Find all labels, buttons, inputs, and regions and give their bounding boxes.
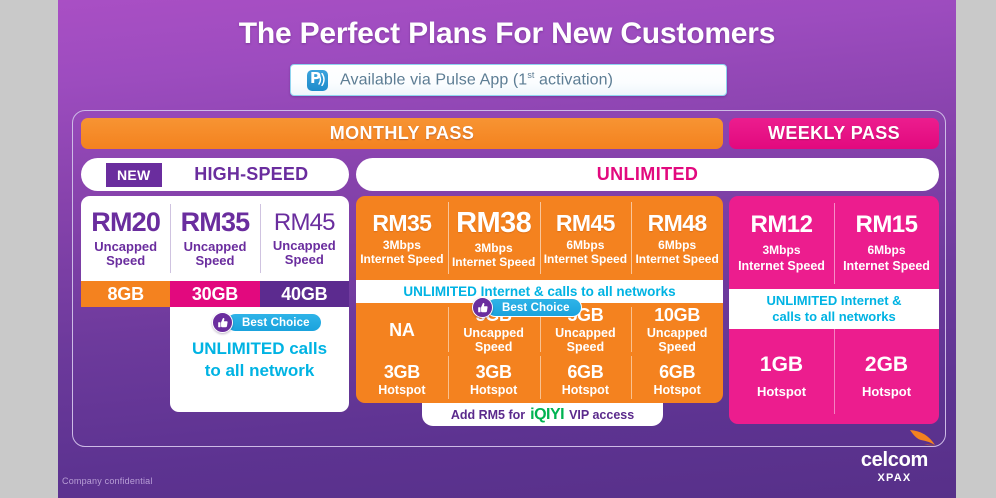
wifi-waves-icon — [317, 73, 326, 86]
hotspot-cell-2gb: 2GB Hotspot — [834, 329, 939, 424]
plan-subtitle: UncappedSpeed — [184, 240, 247, 267]
uncapped-cell-4: 10GB UncappedSpeed — [631, 303, 723, 356]
plan-speed-value: 6Mbps — [566, 239, 604, 252]
unlimited-section-header: UNLIMITED — [356, 158, 939, 191]
high-speed-quota-row: 8GB 30GB 40GB — [81, 281, 349, 307]
thumbs-up-icon — [472, 297, 493, 318]
hotspot-label: Hotspot — [470, 383, 517, 397]
weekly-plans-block: RM12 3Mbps Internet Speed RM15 6Mbps Int… — [729, 196, 939, 424]
high-speed-section-header: NEW HIGH-SPEED — [81, 158, 349, 191]
pulse-text-before: Available via Pulse App (1 — [340, 72, 527, 89]
weekly-internet-calls-banner: UNLIMITED Internet & calls to all networ… — [729, 289, 939, 329]
uncapped-value: NA — [389, 321, 414, 339]
plan-speed-label: Internet Speed — [635, 253, 718, 266]
plan-subtitle: UncappedSpeed — [273, 239, 336, 266]
high-speed-label: HIGH-SPEED — [162, 164, 349, 185]
high-speed-price-row: RM20 UncappedSpeed RM35 UncappedSpeed RM… — [81, 196, 349, 281]
calls-line-1: UNLIMITED calls — [192, 338, 327, 359]
hotspot-cell-2: 3GB Hotspot — [448, 356, 540, 403]
orange-swoosh-icon — [908, 428, 938, 450]
thumbs-up-glyph — [217, 317, 229, 329]
hotspot-cell-1: 3GB Hotspot — [356, 356, 448, 403]
uncapped-label: UncappedSpeed — [463, 326, 523, 354]
pulse-text-superscript: st — [527, 70, 534, 80]
hotspot-cell-3: 6GB Hotspot — [540, 356, 632, 403]
uncapped-value: 10GB — [654, 306, 700, 324]
logo-subbrand: XPAX — [861, 472, 928, 484]
plan-card-rm48-unlimited[interactable]: RM48 6Mbps Internet Speed — [631, 196, 723, 280]
plan-price: RM20 — [91, 209, 160, 236]
hotspot-label: Hotspot — [654, 383, 701, 397]
high-speed-plans-block: RM20 UncappedSpeed RM35 UncappedSpeed RM… — [81, 196, 349, 424]
quota-30gb: 30GB — [170, 281, 259, 307]
hotspot-value: 6GB — [659, 363, 695, 381]
weekly-hotspot-row: 1GB Hotspot 2GB Hotspot — [729, 329, 939, 424]
thumbs-up-icon — [212, 312, 233, 333]
plan-speed-value: 6Mbps — [867, 243, 905, 257]
hotspot-label: Hotspot — [378, 383, 425, 397]
uncapped-label: UncappedSpeed — [647, 326, 707, 354]
plan-price: RM48 — [648, 212, 707, 235]
iqiyi-text-after: VIP access — [569, 408, 634, 422]
plan-speed-value: 3Mbps — [762, 243, 800, 257]
plan-price: RM15 — [855, 213, 917, 237]
plan-card-rm45-unlimited[interactable]: RM45 6Mbps Internet Speed — [540, 196, 632, 280]
hotspot-label: Hotspot — [862, 384, 911, 399]
unlimited-hotspot-row: 3GB Hotspot 3GB Hotspot 6GB Hotspot 6GB … — [356, 356, 723, 403]
unlimited-price-row: RM35 3Mbps Internet Speed RM38 3Mbps Int… — [356, 196, 723, 280]
hotspot-label: Hotspot — [757, 384, 806, 399]
plan-price: RM12 — [750, 213, 812, 237]
weekly-pass-header: WEEKLY PASS — [729, 118, 939, 149]
plan-price: RM38 — [456, 209, 531, 238]
plan-speed-label: Internet Speed — [843, 259, 930, 273]
thumbs-up-glyph — [477, 302, 489, 314]
plan-card-rm35[interactable]: RM35 UncappedSpeed — [170, 196, 259, 281]
plan-card-rm15-weekly[interactable]: RM15 6Mbps Internet Speed — [834, 196, 939, 289]
hotspot-value: 2GB — [865, 354, 908, 375]
plan-card-rm38-unlimited[interactable]: RM38 3Mbps Internet Speed — [448, 196, 540, 280]
best-choice-badge-high-speed: Best Choice — [212, 313, 322, 332]
plan-price: RM45 — [556, 212, 615, 235]
plan-card-rm45[interactable]: RM45 UncappedSpeed — [260, 196, 349, 281]
confidentiality-note: Company confidential — [62, 476, 153, 486]
plan-speed-label: Internet Speed — [738, 259, 825, 273]
plan-speed-label: Internet Speed — [360, 253, 443, 266]
plan-card-rm12-weekly[interactable]: RM12 3Mbps Internet Speed — [729, 196, 834, 289]
calls-line-2: to all network — [205, 360, 315, 381]
logo-brand: celcom — [861, 450, 928, 470]
plans-frame: MONTHLY PASS WEEKLY PASS NEW HIGH-SPEED … — [72, 110, 946, 447]
plan-speed-value: 3Mbps — [383, 239, 421, 252]
pulse-app-banner: P Available via Pulse App (1st activatio… — [290, 64, 727, 96]
plan-card-rm35-unlimited[interactable]: RM35 3Mbps Internet Speed — [356, 196, 448, 280]
plan-speed-label: Internet Speed — [544, 253, 627, 266]
iqiyi-text-before: Add RM5 for — [451, 408, 525, 422]
pulse-app-icon: P — [307, 70, 328, 91]
hotspot-value: 6GB — [567, 363, 603, 381]
hotspot-value: 3GB — [476, 363, 512, 381]
slide-canvas: The Perfect Plans For New Customers P Av… — [58, 0, 956, 498]
unlimited-plans-block: RM35 3Mbps Internet Speed RM38 3Mbps Int… — [356, 196, 723, 441]
quota-8gb: 8GB — [81, 281, 170, 307]
page-title: The Perfect Plans For New Customers — [58, 17, 956, 51]
uncapped-label: UncappedSpeed — [555, 326, 615, 354]
hotspot-value: 3GB — [384, 363, 420, 381]
iqiyi-addon-note: Add RM5 for iQIYI VIP access — [422, 403, 663, 426]
celcom-xpax-logo: celcom XPAX — [861, 450, 928, 484]
best-choice-badge-unlimited: Best Choice — [472, 298, 582, 317]
hotspot-cell-4: 6GB Hotspot — [631, 356, 723, 403]
uncapped-cell-1: NA — [356, 303, 448, 356]
weekly-banner-line-1: UNLIMITED Internet & — [766, 293, 901, 309]
plan-speed-value: 3Mbps — [475, 242, 513, 255]
plan-speed-label: Internet Speed — [452, 256, 535, 269]
best-choice-label: Best Choice — [226, 313, 322, 332]
plan-speed-value: 6Mbps — [658, 239, 696, 252]
weekly-banner-line-2: calls to all networks — [772, 309, 896, 325]
pulse-banner-text: Available via Pulse App (1st activation) — [340, 70, 613, 89]
monthly-pass-header: MONTHLY PASS — [81, 118, 723, 149]
iqiyi-logo: iQIYI — [530, 406, 564, 424]
plan-subtitle: UncappedSpeed — [94, 240, 157, 267]
pulse-text-after: activation) — [535, 72, 614, 89]
quota-40gb: 40GB — [260, 281, 349, 307]
hotspot-cell-1gb: 1GB Hotspot — [729, 329, 834, 424]
hotspot-label: Hotspot — [562, 383, 609, 397]
best-choice-label: Best Choice — [486, 298, 582, 317]
plan-price: RM35 — [372, 212, 431, 235]
plan-price: RM35 — [181, 209, 250, 236]
weekly-price-row: RM12 3Mbps Internet Speed RM15 6Mbps Int… — [729, 196, 939, 289]
hotspot-value: 1GB — [760, 354, 803, 375]
plan-card-rm20[interactable]: RM20 UncappedSpeed — [81, 196, 170, 281]
new-badge: NEW — [106, 163, 162, 187]
plan-price: RM45 — [274, 211, 335, 235]
